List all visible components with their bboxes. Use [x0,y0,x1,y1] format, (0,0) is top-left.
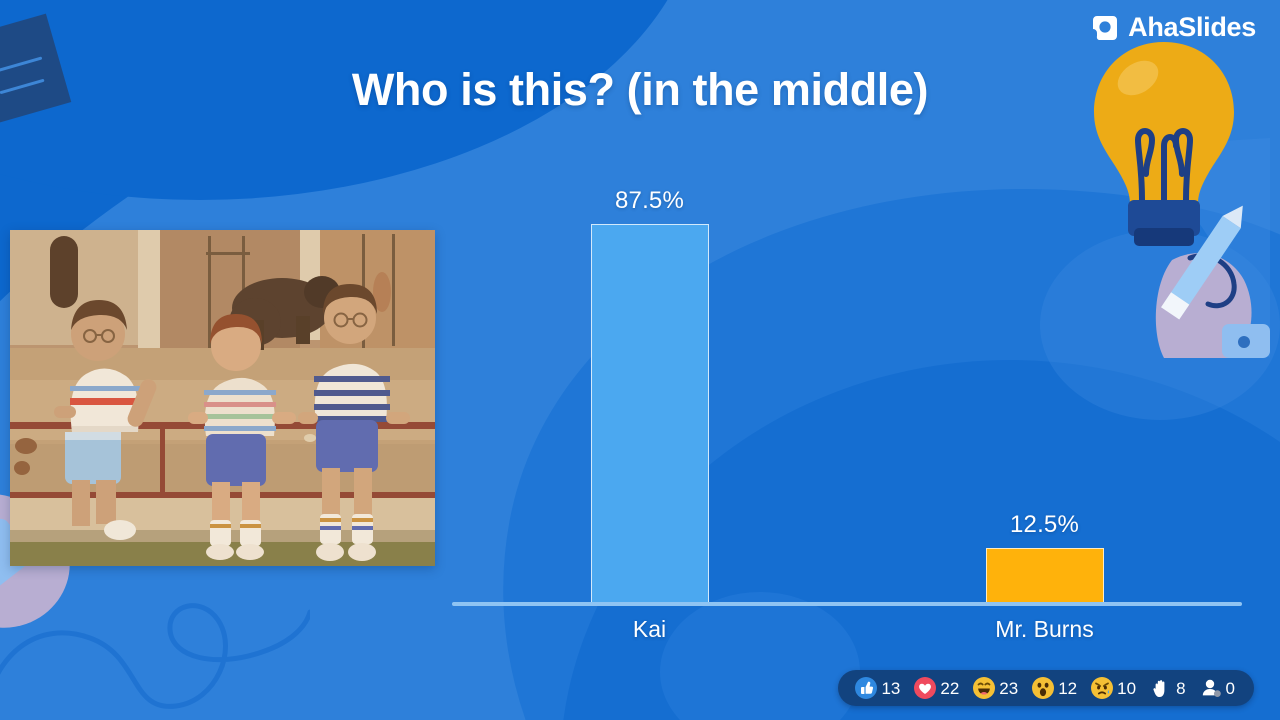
heart-icon [914,677,936,699]
bar-label-mr-burns: Mr. Burns [847,616,1242,643]
brand-logo: AhaSlides [1090,12,1256,43]
laughing-face-icon [973,677,995,699]
bar-kai[interactable] [591,224,709,602]
reaction-like[interactable]: 13 [848,677,907,699]
raised-hand-icon [1150,677,1172,699]
reaction-wow[interactable]: 12 [1025,677,1084,699]
reaction-raise-hand[interactable]: 8 [1143,677,1192,699]
chart-bars: 87.5% 12.5% [452,170,1242,602]
reaction-count: 23 [999,680,1018,697]
reaction-count: 10 [1117,680,1136,697]
surprised-face-icon [1032,677,1054,699]
reaction-haha[interactable]: 23 [966,677,1025,699]
chart-category-labels: Kai Mr. Burns [452,608,1242,650]
ahaslides-logo-icon [1090,13,1120,43]
brand-name: AhaSlides [1128,12,1256,43]
reactions-bar[interactable]: 13 22 23 [838,670,1254,706]
bar-value-label: 12.5% [1010,511,1079,539]
sad-face-icon [1091,677,1113,699]
participants-count[interactable]: 0 [1193,677,1242,699]
photo-illustration [10,230,435,566]
chart-axis-line [452,602,1242,606]
reaction-count: 8 [1176,680,1185,697]
reaction-sad[interactable]: 10 [1084,677,1143,699]
bar-column[interactable]: 12.5% [847,170,1242,602]
poll-results-chart: 87.5% 12.5% Kai Mr. Burns [452,170,1242,650]
question-photo [10,230,435,566]
thumbs-up-icon [855,677,877,699]
page-title: Who is this? (in the middle) [0,64,1280,116]
bar-label-kai: Kai [452,616,847,643]
bar-mr-burns[interactable] [986,548,1104,602]
bar-column[interactable]: 87.5% [452,170,847,602]
reaction-love[interactable]: 22 [907,677,966,699]
person-icon [1200,677,1222,699]
bar-value-label: 87.5% [615,187,684,215]
presentation-slide: AhaSlides Who is this? (in the middle) [0,0,1280,720]
reaction-count: 13 [881,680,900,697]
reaction-count: 12 [1058,680,1077,697]
reaction-count: 22 [940,680,959,697]
reaction-count: 0 [1226,680,1235,697]
